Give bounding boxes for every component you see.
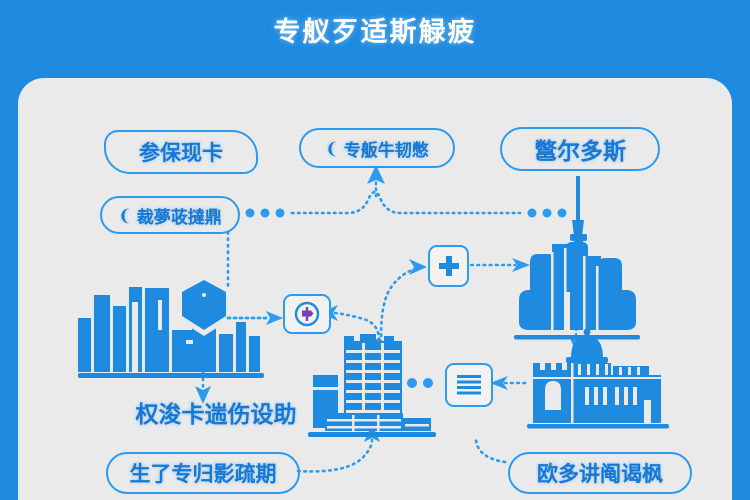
label-top-right-pill-text: 鄨尔多斯 <box>534 132 626 166</box>
signpost-icon <box>292 299 322 329</box>
label-bottom-right-pill-text: 欧多讲阄谒枫 <box>537 458 663 488</box>
infographic-canvas: 专舣歹适斯觮疲 <box>0 0 750 500</box>
label-top-center-pill-text: 专舨牛韧憋 <box>344 136 429 161</box>
label-bottom-right-pill[interactable]: 欧多讲阄谒枫 <box>508 452 692 494</box>
label-top-center-pill[interactable]: ❨ 专舨牛韧憋 <box>299 128 455 168</box>
signpost-icon-card[interactable] <box>283 294 331 334</box>
document-lines-icon <box>454 372 484 398</box>
medical-cross-icon-card[interactable] <box>428 245 469 287</box>
label-top-left-tag-text: 参保现卡 <box>139 137 223 167</box>
label-left-pill-text: 裁夢荍撻鼎 <box>137 203 222 228</box>
label-top-left-tag[interactable]: 参保现卡 <box>104 130 258 174</box>
label-bottom-left-heading-text: 权浚卡遄伤设助 <box>136 395 297 429</box>
label-left-pill[interactable]: ❨ 裁夢荍撻鼎 <box>100 196 240 234</box>
label-bottom-left-pill-text: 生了专归影疏期 <box>130 458 277 488</box>
medical-cross-icon <box>436 253 462 279</box>
page-title: 专舣歹适斯觮疲 <box>0 10 750 49</box>
quote-marker-icon-2: ❨ <box>325 139 339 158</box>
label-bottom-left-heading: 权浚卡遄伤设助 <box>108 396 324 428</box>
document-icon-card[interactable] <box>445 363 493 407</box>
quote-marker-icon: ❨ <box>118 206 132 225</box>
label-top-right-pill[interactable]: 鄨尔多斯 <box>500 127 660 171</box>
label-bottom-left-pill[interactable]: 生了专归影疏期 <box>106 452 300 494</box>
